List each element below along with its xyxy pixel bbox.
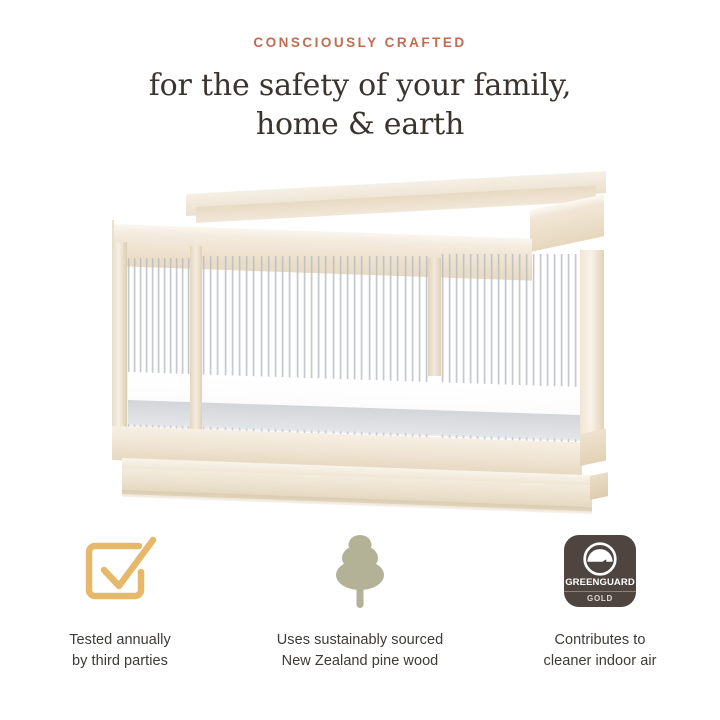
feature-caption: Tested annually by third parties [69, 630, 171, 671]
headline-line-2: home & earth [60, 105, 660, 145]
marketing-panel: CONSCIOUSLY CRAFTED for the safety of yo… [0, 0, 720, 720]
feature-caption: Uses sustainably sourced New Zealand pin… [277, 630, 443, 671]
greenguard-divider [564, 591, 636, 592]
crib-post-right [580, 250, 604, 446]
crib-post-inner-right [428, 258, 441, 376]
feature-greenguard-gold: UL GREENGUARD GOLD Contributes to cleane… [480, 528, 720, 671]
greenguard-gold-badge-icon: UL GREENGUARD GOLD [564, 528, 636, 614]
greenguard-badge: UL GREENGUARD GOLD [564, 535, 636, 607]
greenguard-name: GREENGUARD [565, 578, 635, 588]
checkbox-check-icon [79, 528, 161, 614]
crib-post-mid [190, 246, 202, 452]
feature-caption-line-2: cleaner indoor air [544, 651, 657, 672]
product-image-crib [0, 168, 720, 524]
feature-caption: Contributes to cleaner indoor air [544, 630, 657, 671]
ul-leaf-icon: UL [582, 541, 618, 577]
tree-icon [328, 528, 392, 614]
svg-text:UL: UL [593, 550, 607, 561]
feature-caption-line-1: Contributes to [544, 630, 657, 651]
greenguard-tier: GOLD [587, 595, 613, 603]
crib-post-left [112, 242, 127, 454]
eyebrow-text: CONSCIOUSLY CRAFTED [0, 36, 720, 50]
feature-caption-line-1: Tested annually [69, 630, 171, 651]
checkbox-check-icon-svg [79, 534, 161, 608]
crib-illustration [112, 194, 604, 504]
headline-line-1: for the safety of your family, [60, 66, 660, 106]
feature-caption-line-2: by third parties [69, 651, 171, 672]
feature-caption-line-1: Uses sustainably sourced [277, 630, 443, 651]
page-title: for the safety of your family, home & ea… [0, 66, 720, 145]
crib-bottom-rail-right [580, 428, 606, 466]
crib-plinth-right [590, 472, 608, 500]
feature-sustainable-wood: Uses sustainably sourced New Zealand pin… [240, 528, 480, 671]
feature-caption-line-2: New Zealand pine wood [277, 651, 443, 672]
header: CONSCIOUSLY CRAFTED for the safety of yo… [0, 36, 720, 145]
tree-icon-svg [328, 531, 392, 611]
feature-tested-annually: Tested annually by third parties [0, 528, 240, 671]
feature-row: Tested annually by third parties Uses su… [0, 528, 720, 671]
